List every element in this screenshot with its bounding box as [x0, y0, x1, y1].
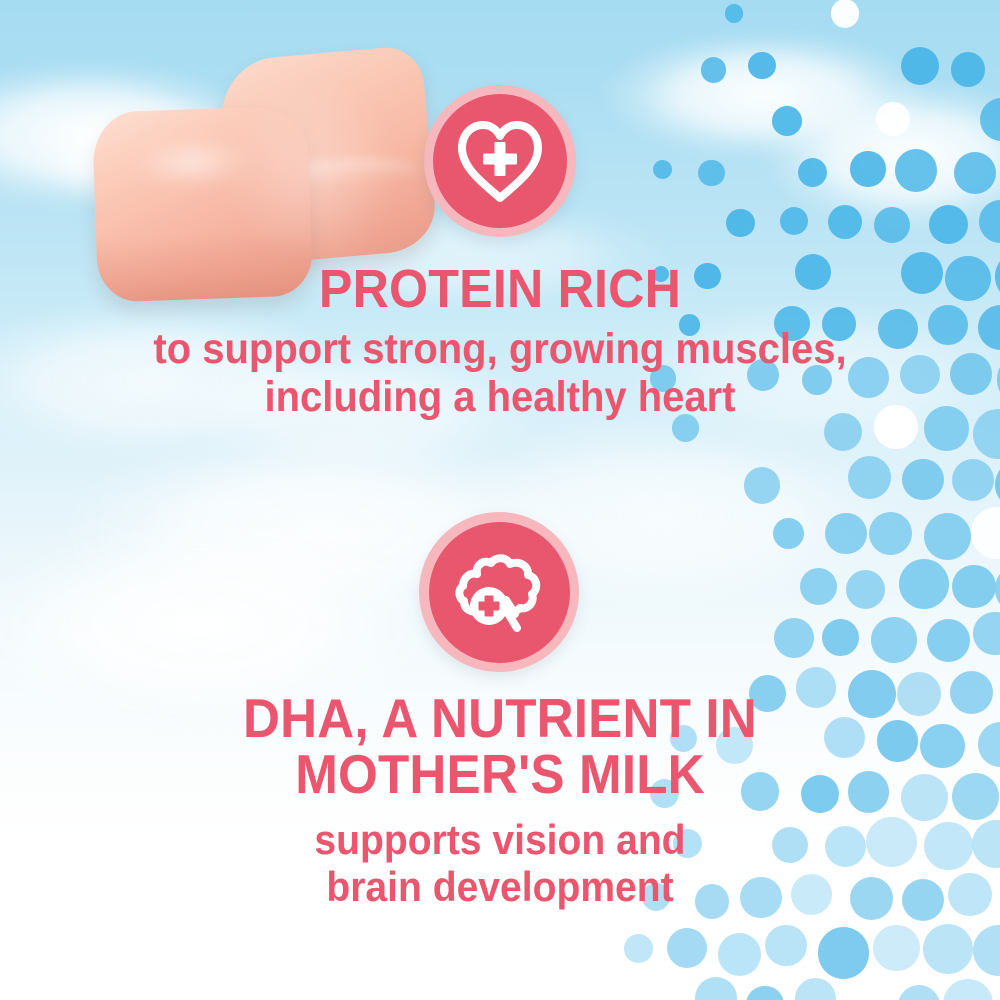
- badge-circle: [429, 522, 570, 663]
- brain-plus-icon: [449, 550, 549, 634]
- benefit-subline: to support strong, growing muscles, incl…: [35, 325, 965, 421]
- heart-plus-badge: [424, 85, 576, 237]
- infographic-canvas: PROTEIN RICH to support strong, growing …: [0, 0, 1000, 1000]
- benefit-block-dha: DHA, A NUTRIENT IN MOTHER'S MILK support…: [0, 690, 1000, 910]
- heart-plus-icon: [454, 118, 546, 204]
- brain-plus-badge: [419, 512, 579, 672]
- benefit-headline: DHA, A NUTRIENT IN MOTHER'S MILK: [35, 690, 965, 802]
- benefit-headline: PROTEIN RICH: [35, 262, 965, 317]
- benefit-block-protein: PROTEIN RICH to support strong, growing …: [0, 262, 1000, 421]
- benefit-subline: supports vision and brain development: [35, 816, 965, 910]
- chicken-highlight: [195, 45, 425, 295]
- badge-circle: [433, 94, 567, 228]
